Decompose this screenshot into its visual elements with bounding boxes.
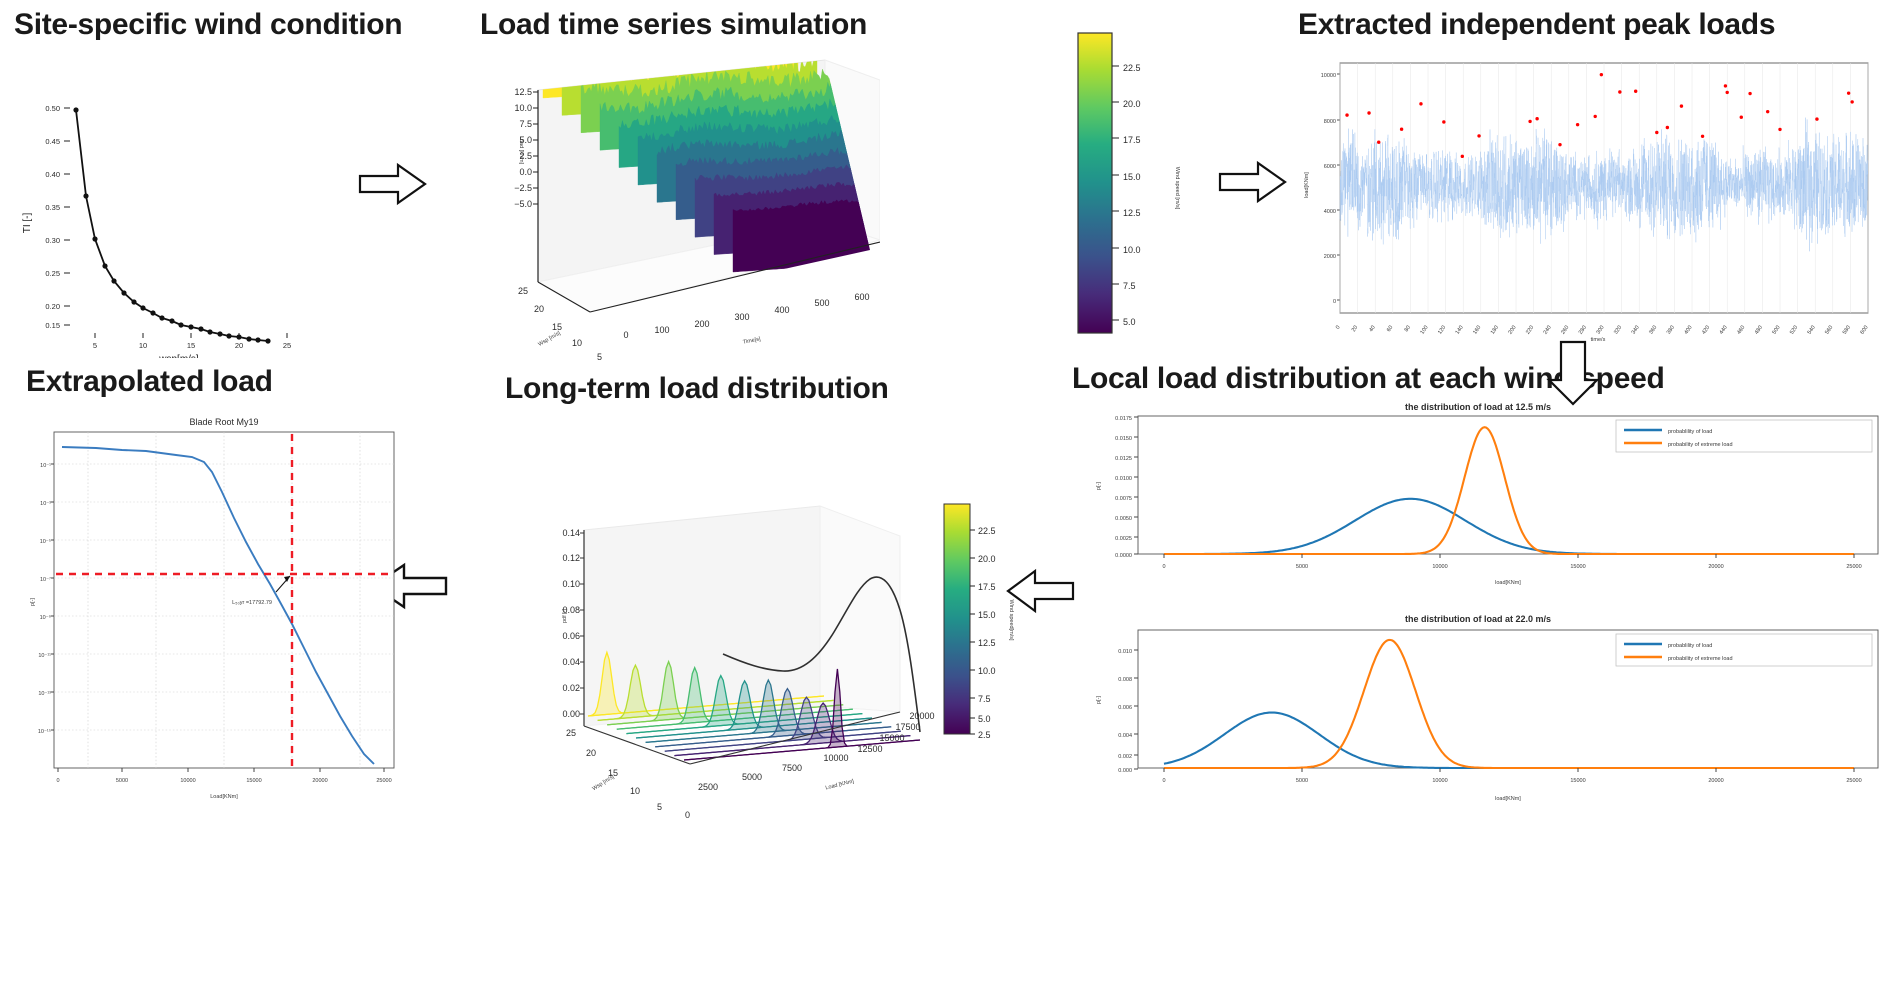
svg-text:15000: 15000: [1570, 564, 1585, 570]
svg-text:25000: 25000: [1846, 564, 1861, 570]
peak-marker: [1850, 100, 1853, 103]
chart-longterm-3d: 0.14 0.12 0.10 0.08 0.06 0.04 0.02 0.00 …: [540, 488, 940, 818]
dist-22p0-y-axis: 0.010 0.008 0.006 0.004 0.002 0.000: [1118, 649, 1138, 774]
dist-12p5-title: the distribution of load at 12.5 m/s: [1405, 402, 1551, 412]
svg-text:0.0: 0.0: [519, 167, 532, 177]
svg-text:0.010: 0.010: [1118, 649, 1132, 655]
chart-dist-22p0: the distribution of load at 22.0 m/s 0.0…: [1058, 608, 1892, 808]
colorbar-gradient-2: [944, 504, 970, 734]
svg-text:15000: 15000: [246, 778, 261, 784]
peak-marker: [1558, 143, 1561, 146]
svg-text:0.02: 0.02: [562, 683, 580, 693]
svg-text:0.45: 0.45: [45, 137, 60, 146]
panel-title-longterm-distribution: Long-term load distribution: [505, 372, 889, 406]
peak-loads-x-tick: 220: [1525, 325, 1535, 336]
svg-text:10⁻⁷: 10⁻⁷: [40, 576, 51, 583]
ts3d-z-axis-title: Load [kNm]: [518, 136, 524, 165]
svg-text:−2.5: −2.5: [514, 183, 532, 193]
peak-loads-x-tick: 0: [1335, 325, 1342, 331]
svg-text:7500: 7500: [782, 763, 802, 773]
ts3d-z-axis: 12.5 10.0 7.5 5.0 2.5 0.0 −2.5 −5.0: [514, 87, 538, 282]
peak-loads-x-tick: 100: [1419, 325, 1429, 336]
peak-marker: [1377, 140, 1380, 143]
colorbar-label-bottom: Wind speed[m/s]: [1008, 600, 1014, 641]
svg-text:−5.0: −5.0: [514, 199, 532, 209]
peak-loads-x-tick: 80: [1404, 325, 1412, 333]
svg-text:10⁻¹¹: 10⁻¹¹: [38, 653, 51, 659]
svg-text:7.5: 7.5: [519, 119, 532, 129]
svg-text:20000: 20000: [1708, 778, 1723, 784]
dist-12p5-x-axis: 0 5000 10000 15000 20000 25000: [1162, 554, 1861, 570]
svg-text:2000: 2000: [1324, 254, 1336, 260]
svg-text:10⁻³: 10⁻³: [40, 501, 51, 507]
svg-text:22.5: 22.5: [978, 526, 996, 536]
peak-loads-x-tick: 20: [1351, 325, 1359, 333]
svg-text:0.00: 0.00: [562, 709, 580, 719]
svg-text:25000: 25000: [376, 778, 391, 784]
svg-text:10.0: 10.0: [1123, 245, 1141, 255]
peak-marker: [1461, 155, 1464, 158]
svg-text:10000: 10000: [180, 778, 195, 784]
svg-text:0.20: 0.20: [45, 302, 60, 311]
extrapolated-y-axis-title: p[-]: [30, 598, 36, 606]
peak-loads-x-tick: 560: [1824, 325, 1834, 336]
peak-loads-x-tick: 360: [1648, 325, 1658, 336]
svg-text:20: 20: [586, 748, 596, 758]
svg-text:10⁻⁹: 10⁻⁹: [40, 614, 51, 621]
svg-text:20000: 20000: [909, 711, 934, 721]
peak-marker: [1600, 73, 1603, 76]
colorbar-ticks-bottom: 22.5 20.0 17.5 15.0 12.5 10.0 7.5 5.0 2.…: [970, 526, 996, 740]
colorbar-wind-speed-bottom: 22.5 20.0 17.5 15.0 12.5 10.0 7.5 5.0 2.…: [940, 500, 1060, 750]
peak-loads-x-tick: 200: [1507, 325, 1517, 336]
peak-marker: [1680, 104, 1683, 107]
svg-text:20000: 20000: [312, 778, 327, 784]
peak-loads-x-axis: 0204060801001201401601802002202402602803…: [1335, 325, 1870, 336]
svg-text:12.5: 12.5: [978, 638, 996, 648]
chart-extrapolated-load: Blade Root My19 10⁻¹ 10⁻³ 10⁻⁵ 10⁻⁷ 10⁻⁹…: [26, 412, 406, 804]
peak-loads-x-tick: 400: [1683, 325, 1693, 336]
svg-text:10000: 10000: [1432, 564, 1447, 570]
peak-marker: [1847, 91, 1850, 94]
dist-22p0-legend-label-0: probablility of load: [1668, 643, 1712, 649]
svg-text:5000: 5000: [742, 772, 762, 782]
lt3d-z-axis-title: pdf [-]: [562, 608, 568, 623]
svg-text:15.0: 15.0: [978, 610, 996, 620]
svg-text:15.0: 15.0: [1123, 172, 1141, 182]
peak-marker: [1576, 123, 1579, 126]
svg-text:0: 0: [685, 810, 690, 818]
dist-22p0-x-axis-title: load[KNm]: [1495, 796, 1521, 802]
svg-text:0.10: 0.10: [562, 579, 580, 589]
peak-loads-x-tick: 40: [1368, 325, 1376, 333]
dist-12p5-y-axis-title: p[-]: [1096, 482, 1102, 490]
dist-12p5-x-axis-title: load[KNm]: [1495, 580, 1521, 586]
peak-marker: [1535, 117, 1538, 120]
svg-text:0.0150: 0.0150: [1115, 436, 1132, 442]
peak-marker: [1528, 120, 1531, 123]
peak-loads-x-tick: 600: [1859, 325, 1869, 336]
svg-text:5: 5: [93, 341, 97, 350]
svg-text:20000: 20000: [1708, 564, 1723, 570]
svg-text:0.0025: 0.0025: [1115, 536, 1132, 542]
peak-marker: [1666, 126, 1669, 129]
svg-text:25: 25: [566, 728, 576, 738]
peak-loads-x-tick: 240: [1543, 325, 1553, 336]
svg-text:5000: 5000: [1296, 564, 1308, 570]
peak-loads-x-tick: 540: [1807, 325, 1817, 336]
svg-text:20: 20: [534, 304, 544, 314]
peak-loads-x-tick: 300: [1595, 325, 1605, 336]
peak-loads-x-tick: 180: [1490, 325, 1500, 336]
peak-marker: [1726, 91, 1729, 94]
peak-loads-x-tick: 280: [1578, 325, 1588, 336]
svg-text:500: 500: [814, 298, 829, 308]
svg-text:25: 25: [283, 341, 291, 350]
ts3d-y-axis-title: Time[s]: [742, 336, 761, 345]
dist-22p0-legend-label-1: probability of extreme load: [1668, 656, 1733, 662]
peak-loads-x-tick: 320: [1613, 325, 1623, 336]
svg-text:10⁻¹³: 10⁻¹³: [38, 691, 51, 697]
svg-text:12.5: 12.5: [1123, 208, 1141, 218]
arrow-down-icon-3: [1545, 340, 1601, 406]
peak-loads-x-tick: 500: [1771, 325, 1781, 336]
svg-text:10: 10: [630, 786, 640, 796]
svg-text:25000: 25000: [1846, 778, 1861, 784]
svg-text:0.002: 0.002: [1118, 754, 1132, 760]
dist-22p0-y-axis-title: p[-]: [1096, 696, 1102, 704]
peak-marker: [1815, 117, 1818, 120]
lt3d-y-axis-title: Load [KNm]: [825, 778, 855, 791]
ti-y-axis-title: TI [-]: [22, 213, 33, 234]
svg-text:5.0: 5.0: [1123, 317, 1136, 327]
svg-text:0: 0: [1162, 778, 1165, 784]
ti-curve-line: [76, 110, 268, 341]
svg-text:0.0125: 0.0125: [1115, 456, 1132, 462]
lt3d-x-axis-title: Wsp [m/s]: [592, 774, 616, 792]
colorbar-gradient: [1078, 33, 1112, 333]
svg-text:0.25: 0.25: [45, 269, 60, 278]
svg-text:0.40: 0.40: [45, 170, 60, 179]
svg-text:15: 15: [187, 341, 195, 350]
extrapolated-y-axis: 10⁻¹ 10⁻³ 10⁻⁵ 10⁻⁷ 10⁻⁹ 10⁻¹¹ 10⁻¹³ 10⁻…: [38, 463, 54, 735]
peak-marker: [1618, 90, 1621, 93]
peak-marker: [1778, 128, 1781, 131]
peak-marker: [1655, 131, 1658, 134]
peak-loads-x-tick: 580: [1842, 325, 1852, 336]
svg-text:0.06: 0.06: [562, 631, 580, 641]
svg-text:0.14: 0.14: [562, 528, 580, 538]
ti-y-axis-ticks: 0.50 0.45 0.40 0.35 0.30 0.25 0.20 0.15: [45, 104, 70, 330]
svg-text:2.5: 2.5: [978, 730, 991, 740]
dist-22p0-legend: probablility of load probability of extr…: [1616, 634, 1872, 666]
peak-loads-x-tick: 380: [1666, 325, 1676, 336]
arrow-right-icon-2: [1218, 160, 1288, 204]
svg-text:0: 0: [56, 778, 59, 784]
svg-text:0: 0: [623, 330, 628, 340]
svg-text:25: 25: [518, 286, 528, 296]
peak-loads-x-tick: 140: [1455, 325, 1465, 336]
svg-text:8000: 8000: [1324, 119, 1336, 125]
peak-marker: [1748, 92, 1751, 95]
svg-text:12500: 12500: [857, 744, 882, 754]
ti-x-axis-ticks: 5 10 15 20 25: [93, 333, 291, 350]
peak-marker: [1701, 135, 1704, 138]
dist-22p0-title: the distribution of load at 22.0 m/s: [1405, 614, 1551, 624]
panel-title-wind-condition: Site-specific wind condition: [14, 8, 402, 42]
chart-peak-loads: 10000 8000 6000 4000 2000 0 load[KNm] 02…: [1298, 55, 1878, 345]
svg-text:0.0050: 0.0050: [1115, 516, 1132, 522]
peak-loads-x-tick: 260: [1560, 325, 1570, 336]
svg-text:17.5: 17.5: [1123, 135, 1141, 145]
peak-marker: [1634, 90, 1637, 93]
extrapolated-x-axis: 0 5000 10000 15000 20000 25000: [56, 768, 391, 784]
peak-loads-x-tick: 340: [1631, 325, 1641, 336]
svg-text:10.0: 10.0: [514, 103, 532, 113]
workflow-diagram: Site-specific wind condition Load time s…: [0, 0, 1892, 1005]
chart-load-time-series-3d: 12.5 10.0 7.5 5.0 2.5 0.0 −2.5 −5.0 Load…: [440, 50, 880, 360]
svg-text:10: 10: [572, 338, 582, 348]
peak-marker: [1400, 128, 1403, 131]
svg-text:20: 20: [235, 341, 243, 350]
dist-12p5-legend-label-1: probability of extreme load: [1668, 442, 1733, 448]
ti-x-axis-title: wsp[m/s]: [158, 354, 199, 358]
svg-text:6000: 6000: [1324, 164, 1336, 170]
svg-text:0.50: 0.50: [45, 104, 60, 113]
dist-12p5-legend-label-0: probablility of load: [1668, 429, 1712, 435]
svg-text:0.12: 0.12: [562, 553, 580, 563]
dist-22p0-x-axis: 0 5000 10000 15000 20000 25000: [1162, 768, 1861, 784]
svg-text:0.30: 0.30: [45, 236, 60, 245]
svg-text:7.5: 7.5: [1123, 281, 1136, 291]
dist-12p5-y-axis: 0.0175 0.0150 0.0125 0.0100 0.0075 0.005…: [1115, 416, 1138, 559]
colorbar-ticks-top: 22.5 20.0 17.5 15.0 12.5 10.0 7.5 5.0: [1112, 63, 1141, 327]
svg-text:5: 5: [597, 352, 602, 360]
panel-title-peak-loads: Extracted independent peak loads: [1298, 8, 1775, 42]
svg-text:400: 400: [774, 305, 789, 315]
peak-loads-x-tick: 480: [1754, 325, 1764, 336]
peak-loads-y-axis: 10000 8000 6000 4000 2000 0: [1321, 73, 1340, 305]
svg-text:200: 200: [694, 319, 709, 329]
dist-12p5-legend: probablility of load probability of extr…: [1616, 420, 1872, 452]
svg-text:10000: 10000: [1432, 778, 1447, 784]
svg-text:5000: 5000: [116, 778, 128, 784]
svg-text:0.35: 0.35: [45, 203, 60, 212]
svg-text:0.0000: 0.0000: [1115, 553, 1132, 559]
svg-text:15000: 15000: [1570, 778, 1585, 784]
svg-text:10⁻⁵: 10⁻⁵: [40, 538, 51, 545]
svg-text:17.5: 17.5: [978, 582, 996, 592]
chart-ti-curve: 0.50 0.45 0.40 0.35 0.30 0.25 0.20 0.15 …: [14, 78, 324, 358]
svg-text:0.004: 0.004: [1118, 733, 1132, 739]
svg-text:5000: 5000: [1296, 778, 1308, 784]
colorbar-wind-speed-top: 22.5 20.0 17.5 15.0 12.5 10.0 7.5 5.0 Wi…: [1070, 28, 1210, 348]
svg-text:20.0: 20.0: [1123, 99, 1141, 109]
peak-loads-x-tick: 60: [1386, 325, 1394, 333]
peak-loads-x-tick: 420: [1701, 325, 1711, 336]
peak-marker: [1419, 102, 1422, 105]
peak-loads-x-tick: 460: [1736, 325, 1746, 336]
arrow-right-icon-1: [358, 162, 428, 206]
svg-text:10⁻¹⁵: 10⁻¹⁵: [38, 728, 51, 735]
peak-loads-x-tick: 520: [1789, 325, 1799, 336]
extrapolated-load-title: Blade Root My19: [189, 417, 258, 427]
svg-text:300: 300: [734, 312, 749, 322]
svg-text:17500: 17500: [895, 722, 920, 732]
svg-text:0: 0: [1333, 299, 1336, 305]
panel-title-load-time-series: Load time series simulation: [480, 8, 867, 42]
svg-text:0.04: 0.04: [562, 657, 580, 667]
svg-text:0.000: 0.000: [1118, 768, 1132, 774]
peak-marker: [1724, 84, 1727, 87]
svg-text:10: 10: [139, 341, 147, 350]
peak-marker: [1367, 111, 1370, 114]
svg-text:0.0100: 0.0100: [1115, 476, 1132, 482]
svg-text:600: 600: [854, 292, 869, 302]
svg-text:5.0: 5.0: [978, 714, 991, 724]
svg-text:20.0: 20.0: [978, 554, 996, 564]
svg-text:0.0075: 0.0075: [1115, 496, 1132, 502]
peak-marker: [1740, 115, 1743, 118]
svg-text:15000: 15000: [879, 733, 904, 743]
svg-text:0.008: 0.008: [1118, 677, 1132, 683]
svg-text:0.0175: 0.0175: [1115, 416, 1132, 422]
svg-text:0.15: 0.15: [45, 321, 60, 330]
peak-loads-y-axis-title: load[KNm]: [1304, 172, 1310, 198]
svg-text:100: 100: [654, 325, 669, 335]
svg-text:10⁻¹: 10⁻¹: [40, 463, 51, 469]
colorbar-label-top: Wind speed [m/s]: [1174, 167, 1180, 210]
peak-marker: [1442, 120, 1445, 123]
panel-title-extrapolated-load: Extrapolated load: [26, 365, 273, 399]
svg-text:12.5: 12.5: [514, 87, 532, 97]
peak-marker: [1594, 115, 1597, 118]
chart-dist-12p5: the distribution of load at 12.5 m/s 0.0…: [1058, 398, 1892, 593]
peak-marker: [1477, 134, 1480, 137]
svg-text:10000: 10000: [823, 753, 848, 763]
peak-marker: [1345, 113, 1348, 116]
lt3d-z-axis: 0.14 0.12 0.10 0.08 0.06 0.04 0.02 0.00: [562, 528, 584, 726]
peak-loads-x-tick: 120: [1437, 325, 1447, 336]
svg-text:0: 0: [1162, 564, 1165, 570]
peak-loads-x-tick: 440: [1719, 325, 1729, 336]
ts3d-x-axis-title: Wsp [m/s]: [537, 330, 562, 348]
svg-text:4000: 4000: [1324, 209, 1336, 215]
svg-text:7.5: 7.5: [978, 694, 991, 704]
ti-data-points: [73, 107, 270, 343]
peak-loads-x-tick: 160: [1472, 325, 1482, 336]
peak-marker: [1766, 110, 1769, 113]
svg-text:5: 5: [657, 802, 662, 812]
svg-text:10.0: 10.0: [978, 666, 996, 676]
svg-text:2500: 2500: [698, 782, 718, 792]
svg-text:0.006: 0.006: [1118, 705, 1132, 711]
svg-text:22.5: 22.5: [1123, 63, 1141, 73]
svg-text:10000: 10000: [1321, 73, 1336, 79]
extrapolated-annotation: L₅₀yr =17792.79: [232, 600, 272, 606]
extrapolated-x-axis-title: Load[KNm]: [210, 794, 238, 800]
